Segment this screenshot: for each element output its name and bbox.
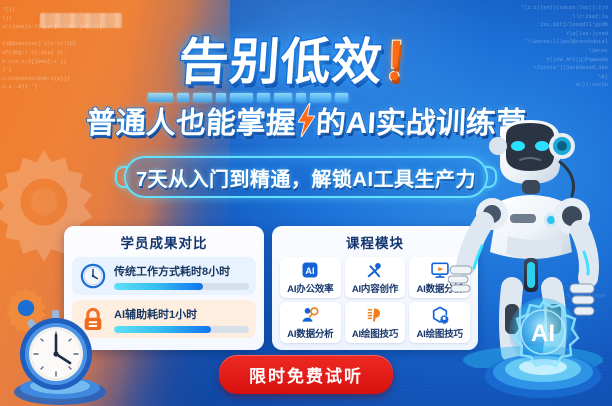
module-cell-ai-data-2[interactable]: AI数据分析	[280, 302, 341, 343]
progress-track-traditional	[114, 283, 249, 290]
promo-banner: "[)] l)l a|x)9ae)x:l{:per}:)l360:}4})})}…	[0, 0, 612, 406]
clock-icon	[79, 262, 107, 290]
person-search-icon	[300, 305, 320, 325]
course-modules-grid: AI AI办公效率 AI内容创作	[280, 257, 470, 343]
module-label: AI办公效率	[287, 281, 333, 295]
cards-row: 学员成果对比 传统工作方式耗时8小时	[64, 226, 478, 350]
free-trial-button[interactable]: 限时免费试听	[219, 355, 393, 394]
monitor-play-icon	[430, 260, 450, 280]
course-modules-title: 课程模块	[280, 232, 470, 252]
comparison-row-traditional: 传统工作方式耗时8小时	[72, 257, 256, 295]
module-cell-ai-content[interactable]: AI内容创作	[345, 257, 406, 298]
comparison-label-traditional: 传统工作方式耗时8小时	[114, 263, 249, 279]
paint-hand-icon	[365, 305, 385, 325]
progress-fill-ai	[114, 326, 211, 333]
tech-decoration-strip	[148, 88, 348, 106]
redacted-watermark	[40, 13, 122, 28]
progress-track-ai	[114, 326, 249, 333]
module-label: AI内容创作	[352, 281, 398, 295]
module-label: AI数据分析	[287, 326, 333, 340]
comparison-label-ai: AI辅助耗时1小时	[114, 306, 249, 322]
student-results-title: 学员成果对比	[72, 232, 256, 252]
svg-text:AI: AI	[306, 266, 315, 276]
stopwatch-illustration	[4, 300, 108, 406]
ai-badge-icon: AI	[300, 260, 320, 280]
progress-fill-traditional	[114, 283, 203, 290]
module-cell-ai-office[interactable]: AI AI办公效率	[280, 257, 341, 298]
ai-hologram-platform: AI	[480, 292, 606, 404]
module-cell-ai-drawing-1[interactable]: AI绘图技巧	[345, 302, 406, 343]
pen-microphone-icon	[365, 260, 385, 280]
module-label: AI绘图技巧	[352, 326, 398, 340]
ai-orb-label: AI	[531, 320, 555, 347]
shape-gear-icon	[430, 305, 450, 325]
tagline-text: 7天从入门到精通，解锁AI工具生产力	[124, 156, 488, 198]
tagline-banner: 7天从入门到精通，解锁AI工具生产力	[124, 156, 488, 198]
